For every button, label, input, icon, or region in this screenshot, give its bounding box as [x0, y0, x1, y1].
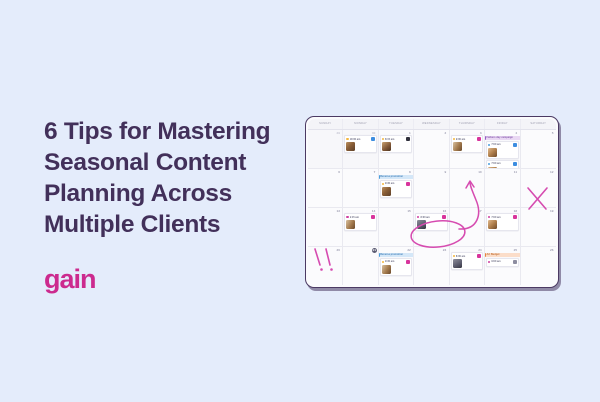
day-number: 26	[522, 248, 555, 252]
status-dot-icon	[382, 183, 384, 185]
event-card-body	[488, 167, 516, 168]
calendar-day-cell[interactable]: 3 9:00 am	[450, 130, 485, 168]
calendar-weekday-header: SUNDAY MONDAY TUESDAY WEDNESDAY THURSDAY…	[308, 119, 556, 130]
calendar-day-cell[interactable]: 8 Reverse promotion 9:30 am	[379, 169, 414, 207]
status-dot-icon	[346, 138, 348, 140]
calendar-day-cell[interactable]: 26	[521, 247, 556, 285]
event-card[interactable]: 8:15 am	[380, 135, 412, 153]
calendar-day-cell-circled[interactable]: 16 8:00 am	[414, 208, 449, 246]
headline-line-2: Seasonal Content	[44, 149, 246, 176]
event-thumbnail	[488, 220, 497, 229]
event-time: 10:00 am	[350, 138, 370, 141]
text-block: 6 Tips for Mastering Seasonal Content Pl…	[44, 116, 294, 293]
event-card-body	[382, 142, 410, 151]
calendar-day-cell[interactable]: 29	[308, 130, 343, 168]
event-text-lines	[392, 187, 410, 196]
status-dot-icon	[488, 261, 490, 263]
brand-logo: gain	[44, 266, 294, 293]
event-card[interactable]: 9:30 am	[380, 180, 412, 198]
headline-line-4: Multiple Clients	[44, 211, 220, 238]
event-time: 8:00 am	[420, 216, 440, 219]
event-time: 7:00 am	[491, 162, 511, 165]
weekday-saturday: SATURDAY	[521, 119, 556, 129]
poster-canvas: 6 Tips for Mastering Seasonal Content Pl…	[0, 0, 600, 402]
calendar-day-cell[interactable]: 13	[308, 208, 343, 246]
event-time: 7:00 am	[491, 143, 511, 146]
event-thumbnail	[488, 148, 497, 157]
calendar-weeks: 29 30 10:00 am	[308, 130, 556, 285]
event-thumbnail	[382, 187, 391, 196]
weekday-sunday: SUNDAY	[308, 119, 343, 129]
day-number: 29	[309, 131, 341, 135]
event-card-header: 7:00 am	[488, 215, 516, 219]
event-text-lines	[357, 142, 375, 151]
event-card[interactable]: 10:00 am	[344, 135, 376, 153]
event-text-lines	[498, 167, 516, 168]
event-text-lines	[498, 220, 516, 229]
event-card[interactable]: 8:00 am	[415, 213, 447, 231]
event-card[interactable]: 7:00 am	[486, 141, 518, 159]
day-number: 8	[380, 170, 412, 174]
status-dot-icon	[382, 261, 384, 263]
event-text-lines	[463, 259, 481, 268]
channel-badge-icon	[371, 137, 375, 141]
calendar-day-cell[interactable]: 18 7:00 am	[485, 208, 520, 246]
calendar-day-cell[interactable]: 4 Fathers day campaign 7:00 am	[485, 130, 520, 168]
calendar-day-cell[interactable]: 10	[450, 169, 485, 207]
event-card-body	[453, 142, 481, 151]
event-card-body	[382, 265, 410, 274]
channel-badge-icon	[513, 162, 517, 166]
channel-badge-icon	[513, 143, 517, 147]
day-number: 10	[451, 170, 483, 174]
event-card-header: 9:00 am	[488, 260, 516, 264]
event-card-header: 9:15 am	[346, 215, 374, 219]
calendar-mockup-window: SUNDAY MONDAY TUESDAY WEDNESDAY THURSDAY…	[305, 116, 559, 288]
event-time: 9:00 am	[491, 260, 511, 263]
event-card-header: 9:30 am	[382, 182, 410, 186]
calendar-month-view: SUNDAY MONDAY TUESDAY WEDNESDAY THURSDAY…	[308, 119, 556, 285]
channel-badge-icon	[513, 215, 517, 219]
day-number: 2	[415, 131, 447, 135]
event-card[interactable]: 9:15 am	[344, 213, 376, 231]
day-number: 17	[451, 209, 483, 213]
day-number: 25	[486, 248, 518, 252]
calendar-week-row: 20 21 22 Reverse promotion 9:30 am	[308, 247, 556, 285]
day-number: 23	[415, 248, 447, 252]
event-card-body	[488, 220, 516, 229]
event-card-body	[453, 259, 481, 268]
calendar-day-cell[interactable]: 1 8:15 am	[379, 130, 414, 168]
event-thumbnail	[382, 142, 391, 151]
event-card-header: 9:00 am	[453, 137, 481, 141]
event-text-lines	[498, 148, 516, 157]
calendar-day-cell[interactable]: 7	[343, 169, 378, 207]
channel-badge-icon	[442, 215, 446, 219]
calendar-day-cell[interactable]: 6	[308, 169, 343, 207]
event-card-body	[346, 142, 374, 151]
campaign-banner[interactable]: Reverse promotion	[379, 253, 414, 258]
day-number: 22	[380, 248, 412, 252]
event-text-lines	[427, 220, 445, 229]
status-dot-icon	[488, 216, 490, 218]
channel-badge-icon	[406, 260, 410, 264]
event-text-lines	[392, 265, 410, 274]
event-thumbnail	[417, 220, 426, 229]
calendar-day-cell[interactable]: 22 Reverse promotion 9:30 am	[379, 247, 414, 285]
status-dot-icon	[417, 216, 419, 218]
day-number: 19	[522, 209, 555, 213]
day-number: 13	[309, 209, 341, 213]
event-thumbnail	[346, 142, 355, 151]
status-dot-icon	[346, 216, 348, 218]
calendar-week-row: 13 14 9:15 am	[308, 208, 556, 247]
event-text-lines	[392, 142, 410, 151]
day-number-today: 21	[372, 248, 377, 253]
channel-badge-icon	[513, 260, 517, 264]
channel-badge-icon	[406, 137, 410, 141]
page-title: 6 Tips for Mastering Seasonal Content Pl…	[44, 116, 294, 240]
event-card-header: 10:00 am	[346, 137, 374, 141]
status-dot-icon	[488, 163, 490, 165]
channel-badge-icon	[371, 215, 375, 219]
event-card-body	[488, 148, 516, 157]
calendar-day-cell-today[interactable]: 21	[343, 247, 378, 285]
calendar-day-cell[interactable]: 2	[414, 130, 449, 168]
event-card-body	[382, 187, 410, 196]
headline-line-3: Planning Across	[44, 180, 232, 207]
day-number: 9	[415, 170, 447, 174]
day-number: 4	[486, 131, 518, 135]
event-card-header: 7:00 am	[488, 162, 516, 166]
event-time: 9:15 am	[350, 216, 370, 219]
channel-badge-icon	[477, 137, 481, 141]
calendar-week-row: 29 30 10:00 am	[308, 130, 556, 169]
weekday-wednesday: WEDNESDAY	[414, 119, 449, 129]
channel-badge-icon	[477, 254, 481, 258]
day-number: 5	[522, 131, 555, 135]
event-time: 8:00 am	[456, 255, 476, 258]
calendar-day-cell[interactable]: 15	[379, 208, 414, 246]
calendar-day-cell[interactable]: 19	[521, 208, 556, 246]
calendar-day-cell[interactable]: 12	[521, 169, 556, 207]
event-card-body	[346, 220, 374, 229]
event-card-header: 7:00 am	[488, 143, 516, 147]
calendar-day-cell[interactable]: 23	[414, 247, 449, 285]
event-time: 9:00 am	[456, 138, 476, 141]
campaign-banner[interactable]: Reverse promotion	[379, 175, 414, 180]
calendar-day-cell[interactable]: 30 10:00 am	[343, 130, 378, 168]
weekday-thursday: THURSDAY	[450, 119, 485, 129]
day-number: 7	[344, 170, 376, 174]
event-thumbnail	[453, 259, 462, 268]
day-number: 6	[309, 170, 341, 174]
event-card[interactable]: 9:00 am	[451, 135, 483, 153]
event-card-body	[417, 220, 445, 229]
campaign-banner[interactable]: Art Budget	[485, 253, 520, 258]
status-dot-icon	[453, 255, 455, 257]
calendar-day-cell[interactable]: 11	[485, 169, 520, 207]
weekday-friday: FRIDAY	[485, 119, 520, 129]
event-time: 8:15 am	[385, 138, 405, 141]
calendar-day-cell[interactable]: 25 Art Budget 9:00 am	[485, 247, 520, 285]
event-card-header: 8:15 am	[382, 137, 410, 141]
calendar-week-row: 6 7 8 Reverse promotion 9:30 am	[308, 169, 556, 208]
status-dot-icon	[453, 138, 455, 140]
calendar-day-cell[interactable]: 24 8:00 am	[450, 247, 485, 285]
event-text-lines	[463, 142, 481, 151]
channel-badge-icon	[406, 182, 410, 186]
day-number: 11	[486, 170, 518, 174]
event-card[interactable]: 7:00 am	[486, 160, 518, 168]
event-card[interactable]: 8:00 am	[451, 252, 483, 270]
event-thumbnail	[382, 265, 391, 274]
event-thumbnail	[488, 167, 497, 168]
headline-line-1: 6 Tips for Mastering	[44, 118, 270, 145]
campaign-banner[interactable]: Fathers day campaign	[485, 136, 520, 141]
status-dot-icon	[382, 138, 384, 140]
event-thumbnail	[346, 220, 355, 229]
day-number: 15	[380, 209, 412, 213]
calendar-day-cell[interactable]: 14 9:15 am	[343, 208, 378, 246]
calendar-day-cell[interactable]: 17	[450, 208, 485, 246]
event-text-lines	[357, 220, 375, 229]
calendar-day-cell[interactable]: 5	[521, 130, 556, 168]
event-card-header: 8:00 am	[417, 215, 445, 219]
event-card-header: 8:00 am	[453, 254, 481, 258]
event-card-header: 9:30 am	[382, 260, 410, 264]
calendar-day-cell[interactable]: 9	[414, 169, 449, 207]
weekday-monday: MONDAY	[343, 119, 378, 129]
event-thumbnail	[453, 142, 462, 151]
day-number: 20	[309, 248, 341, 252]
event-time: 9:30 am	[385, 260, 405, 263]
status-dot-icon	[488, 144, 490, 146]
event-card[interactable]: 9:30 am	[380, 258, 412, 276]
event-card[interactable]: 7:00 am	[486, 213, 518, 231]
calendar-day-cell[interactable]: 20	[308, 247, 343, 285]
day-number: 12	[522, 170, 555, 174]
weekday-tuesday: TUESDAY	[379, 119, 414, 129]
event-card[interactable]: 9:00 am	[486, 258, 518, 267]
event-time: 9:30 am	[385, 182, 405, 185]
event-time: 7:00 am	[491, 216, 511, 219]
